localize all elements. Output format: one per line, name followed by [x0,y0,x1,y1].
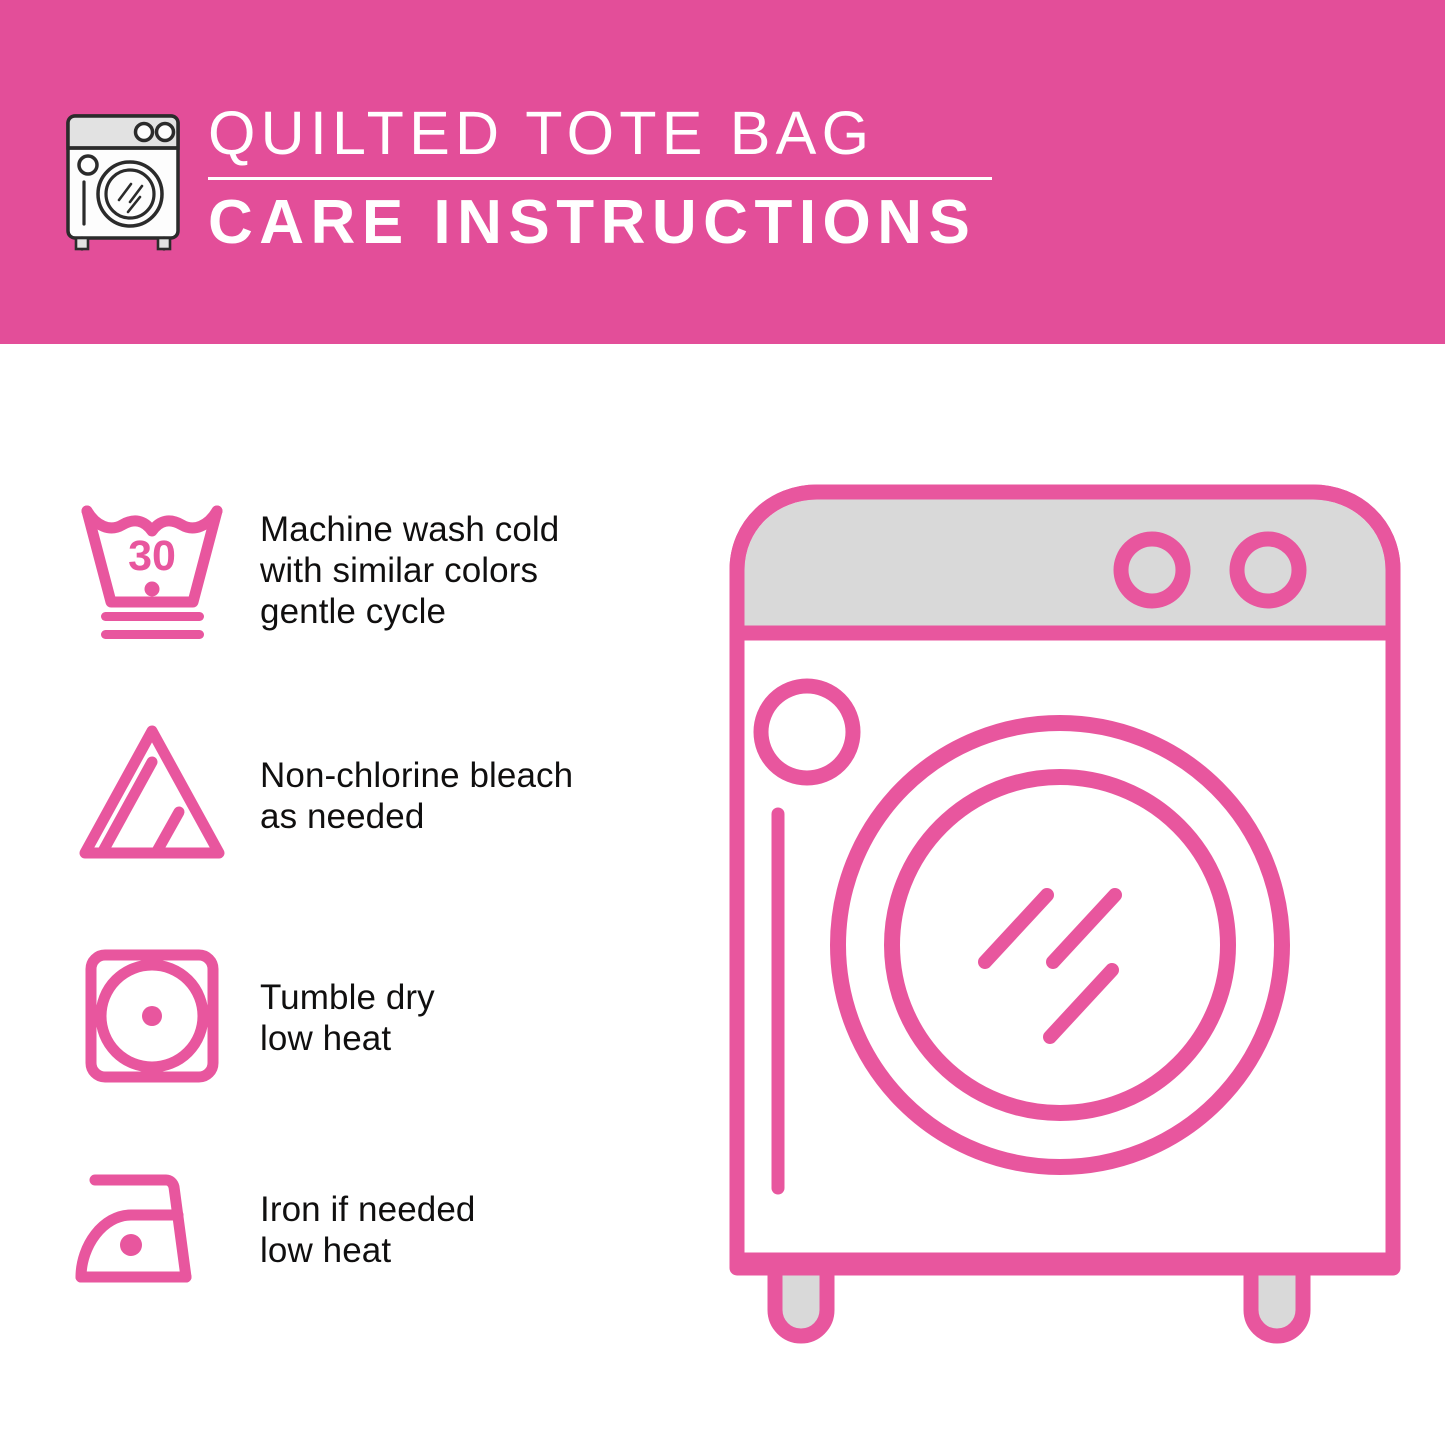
care-instructions-list: 30 Machine wash cold with similar colors… [0,344,700,1445]
machine-wash-30-gentle-icon: 30 [66,490,238,650]
care-text: Non-chlorine bleach as needed [260,755,573,837]
iron-low-heat-icon [66,1150,238,1310]
non-chlorine-bleach-icon [66,716,238,876]
tumble-dry-dot [142,1006,162,1026]
wash-bar-2 [101,630,204,639]
washer-knob-right[interactable] [1237,539,1299,601]
washing-machine-icon [62,102,184,252]
care-row: Iron if needed low heat [66,1150,686,1310]
header-titles: QUILTED TOTE BAG CARE INSTRUCTIONS [208,98,992,257]
care-row: 30 Machine wash cold with similar colors… [66,490,686,650]
care-text: Iron if needed low heat [260,1189,475,1271]
header-band: QUILTED TOTE BAG CARE INSTRUCTIONS [0,0,1445,344]
washer-knob-left[interactable] [1121,539,1183,601]
wash-temperature-label: 30 [128,532,176,580]
header-divider [208,177,992,180]
wash-bar-1 [101,612,204,621]
page-subtitle: CARE INSTRUCTIONS [208,189,992,257]
iron-dot [120,1234,142,1256]
page-title: QUILTED TOTE BAG [208,100,992,166]
care-row: Tumble dry low heat [66,938,686,1098]
care-text: Machine wash cold with similar colors ge… [260,509,559,632]
wash-dot [145,582,160,597]
washer-indicator-light [761,686,853,778]
care-text: Tumble dry low heat [260,977,435,1059]
care-row: Non-chlorine bleach as needed [66,716,686,876]
tumble-dry-low-icon [66,938,238,1098]
washing-machine-illustration [715,470,1415,1380]
header-content: QUILTED TOTE BAG CARE INSTRUCTIONS [62,98,992,258]
